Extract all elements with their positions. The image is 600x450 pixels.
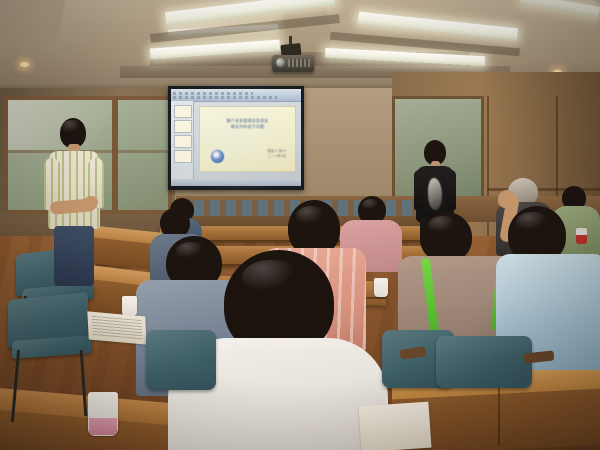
downlight-left — [20, 62, 29, 67]
white-cup-left — [122, 296, 137, 316]
projector-lens — [276, 58, 285, 67]
presenter-hair-sheen — [62, 120, 82, 134]
slide-byline: 报告人 张×× 二○○×年×月 — [268, 149, 286, 159]
chair-back-foreground-right[interactable] — [436, 336, 532, 388]
slide-title: 客户关系管理及信息化 建设中的若干问题 — [209, 118, 286, 130]
projector-vent — [288, 59, 310, 67]
slide-logo-icon — [210, 149, 225, 164]
powerpoint-slide-pane — [171, 101, 194, 186]
standing-woman-top-pattern — [428, 178, 442, 210]
slide-thumbnail — [174, 150, 192, 163]
standing-woman-arm-left — [414, 170, 424, 210]
presenter-hand — [84, 196, 98, 208]
slide-thumbnail — [174, 120, 192, 133]
hair-sheen — [428, 216, 458, 234]
chair-back-foreground-left[interactable] — [146, 330, 216, 390]
hair-sheen — [296, 206, 326, 226]
standing-woman-arm-right — [446, 170, 456, 210]
slide-thumbnail — [174, 105, 192, 118]
presenter-legs — [54, 226, 94, 286]
seminar-room-photo: 客户关系管理及信息化 建设中的若干问题 报告人 张×× 二○○×年×月 — [0, 0, 600, 450]
powerpoint-status-bar — [171, 179, 301, 186]
slide-thumbnail — [174, 135, 192, 148]
handout-foreground — [358, 402, 431, 450]
projection-screen: 客户关系管理及信息化 建设中的若干问题 报告人 张×× 二○○×年×月 — [171, 89, 301, 186]
current-slide: 客户关系管理及信息化 建设中的若干问题 报告人 张×× 二○○×年×月 — [199, 106, 296, 172]
presenter[interactable] — [44, 118, 114, 286]
hair-sheen — [516, 212, 550, 232]
hair-sheen — [242, 260, 300, 294]
cup-pink-band — [89, 418, 117, 435]
